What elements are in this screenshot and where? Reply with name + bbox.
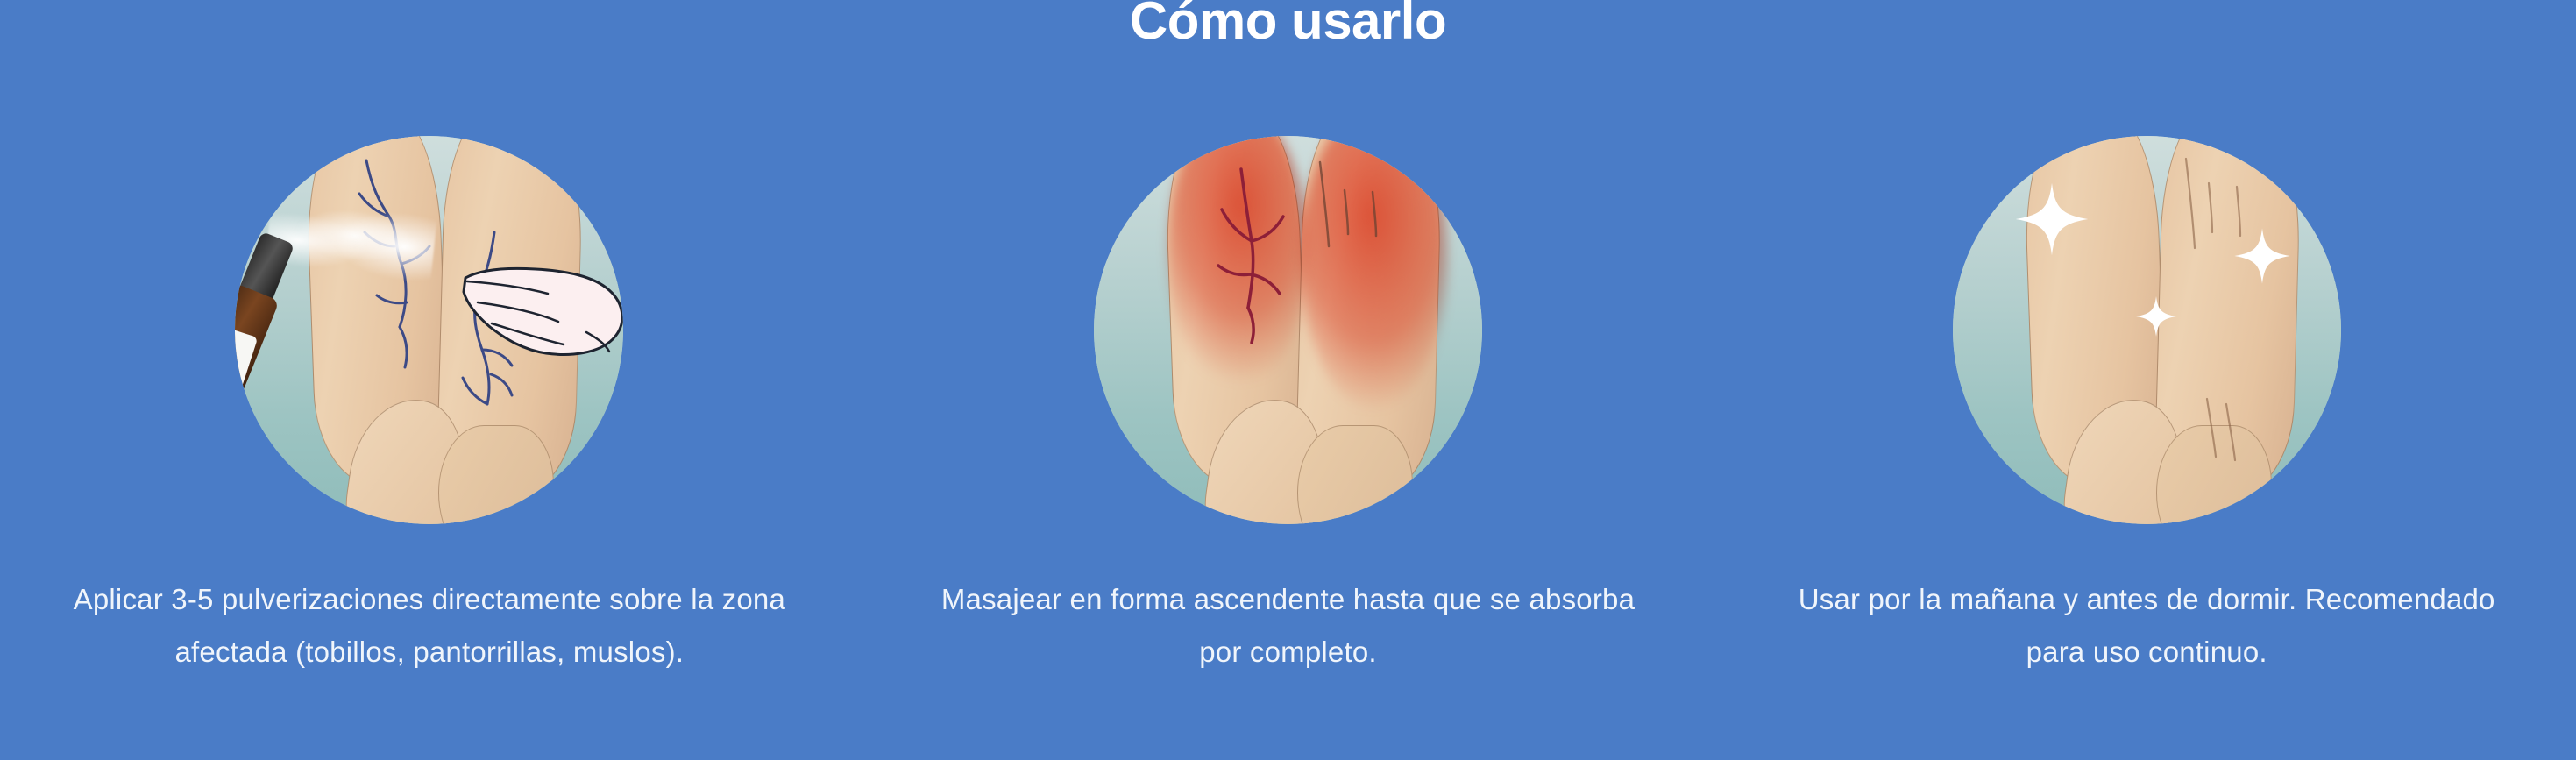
step-item: Masajear en forma ascendente hasta que s… bbox=[859, 136, 1718, 678]
step-caption: Masajear en forma ascendente hasta que s… bbox=[929, 573, 1648, 678]
step-2-illustration bbox=[1094, 136, 1482, 524]
right-foot-shape bbox=[2156, 425, 2272, 524]
step-item: Aplicar 3-5 pulverizaciones directamente… bbox=[0, 136, 859, 678]
hand-icon bbox=[460, 257, 623, 366]
how-to-use-section: Cómo usarlo bbox=[0, 0, 2576, 760]
steps-row: Aplicar 3-5 pulverizaciones directamente… bbox=[0, 136, 2576, 678]
step-3-illustration bbox=[1953, 136, 2341, 524]
step-caption: Usar por la mañana y antes de dormir. Re… bbox=[1787, 573, 2506, 678]
right-foot-shape bbox=[438, 425, 554, 524]
page-title: Cómo usarlo bbox=[0, 0, 2576, 53]
step-item: Usar por la mañana y antes de dormir. Re… bbox=[1717, 136, 2576, 678]
step-caption: Aplicar 3-5 pulverizaciones directamente… bbox=[70, 573, 789, 678]
step-1-illustration bbox=[235, 136, 623, 524]
right-foot-shape bbox=[1297, 425, 1413, 524]
